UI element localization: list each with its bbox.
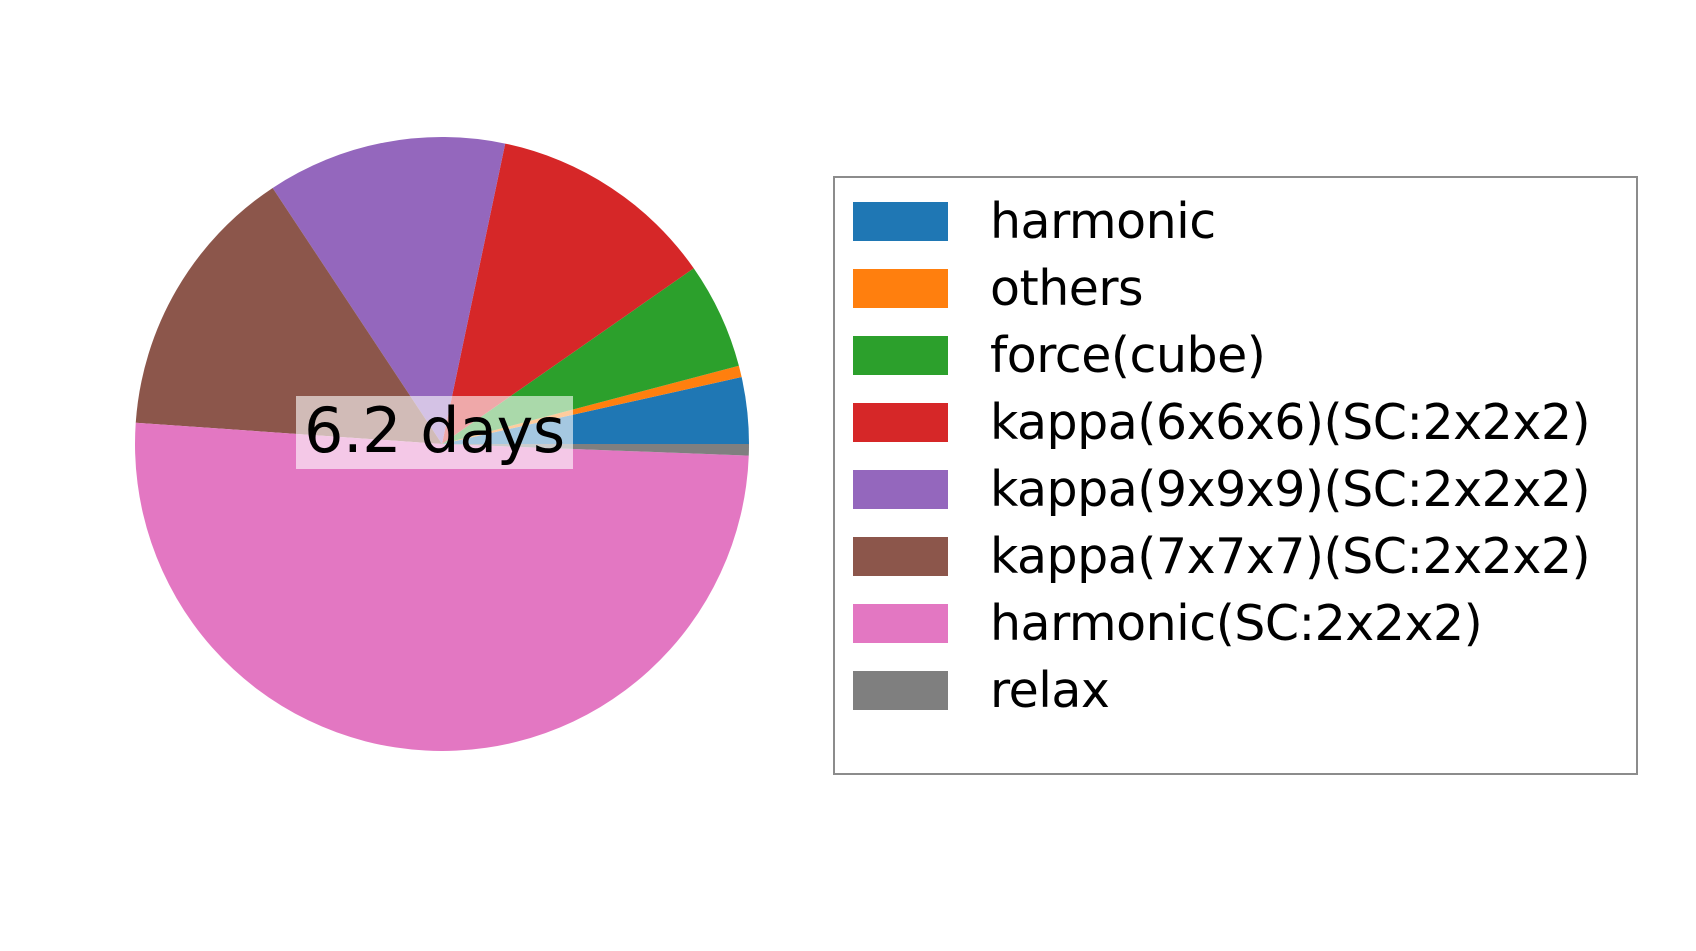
legend-items-list: harmonicothersforce(cube)kappa(6x6x6)(SC… <box>853 188 1628 724</box>
legend-item-label: harmonic(SC:2x2x2) <box>990 595 1482 652</box>
legend-item[interactable]: relax <box>853 657 1628 724</box>
legend-item[interactable]: kappa(7x7x7)(SC:2x2x2) <box>853 523 1628 590</box>
legend-color-swatch <box>853 202 948 241</box>
legend-item[interactable]: harmonic <box>853 188 1628 255</box>
legend-item[interactable]: kappa(9x9x9)(SC:2x2x2) <box>853 456 1628 523</box>
chart-legend: harmonicothersforce(cube)kappa(6x6x6)(SC… <box>833 176 1638 775</box>
legend-item[interactable]: force(cube) <box>853 322 1628 389</box>
pie-center-total-label: 6.2 days <box>296 396 573 469</box>
pie-chart-figure: 6.2 days harmonicothersforce(cube)kappa(… <box>0 0 1696 951</box>
legend-item-label: kappa(7x7x7)(SC:2x2x2) <box>990 528 1590 585</box>
legend-item-label: relax <box>990 662 1109 719</box>
legend-color-swatch <box>853 537 948 576</box>
legend-item-label: harmonic <box>990 193 1216 250</box>
legend-color-swatch <box>853 604 948 643</box>
legend-item-label: kappa(9x9x9)(SC:2x2x2) <box>990 461 1590 518</box>
legend-color-swatch <box>853 470 948 509</box>
legend-color-swatch <box>853 336 948 375</box>
legend-item-label: force(cube) <box>990 327 1265 384</box>
legend-item-label: kappa(6x6x6)(SC:2x2x2) <box>990 394 1590 451</box>
pie-slice[interactable] <box>135 423 749 751</box>
legend-item-label: others <box>990 260 1143 317</box>
legend-color-swatch <box>853 671 948 710</box>
legend-color-swatch <box>853 403 948 442</box>
legend-item[interactable]: kappa(6x6x6)(SC:2x2x2) <box>853 389 1628 456</box>
legend-item[interactable]: others <box>853 255 1628 322</box>
legend-item[interactable]: harmonic(SC:2x2x2) <box>853 590 1628 657</box>
legend-color-swatch <box>853 269 948 308</box>
